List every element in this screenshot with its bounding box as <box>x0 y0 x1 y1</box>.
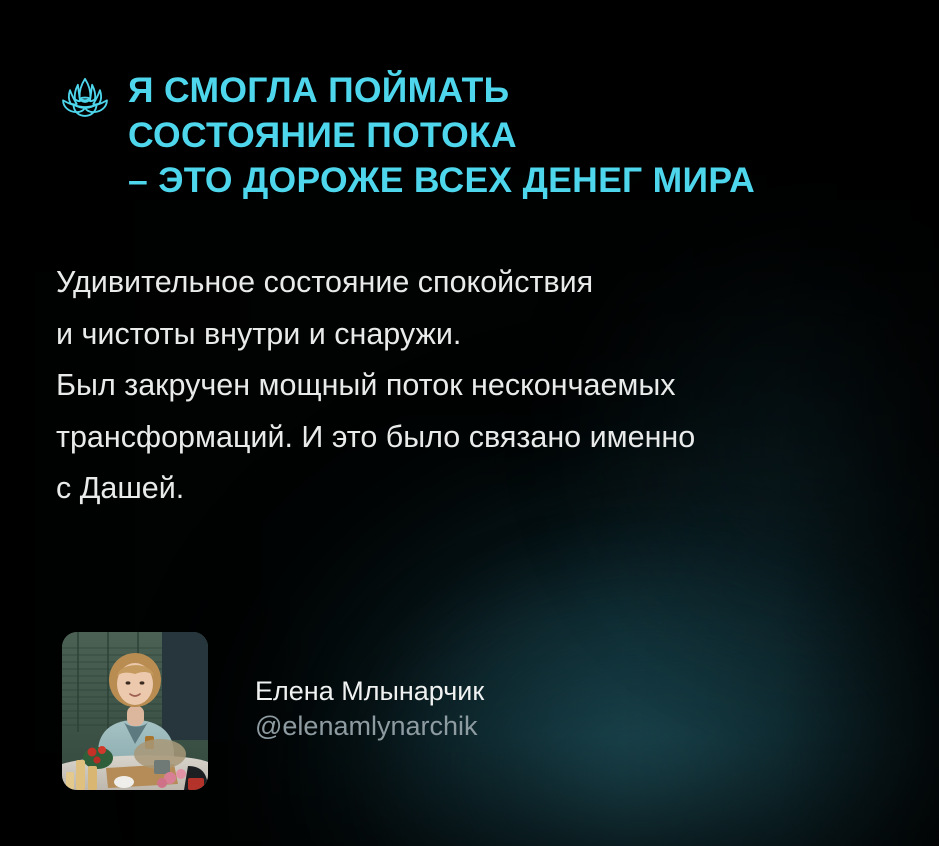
body-line-5: с Дашей. <box>56 463 916 515</box>
body-line-2: и чистоты внутри и снаружи. <box>56 309 916 361</box>
body-line-4: трансформаций. И это было связано именно <box>56 412 916 464</box>
author-block: Елена Млынарчик @elenamlynarchik <box>62 632 662 792</box>
author-text: Елена Млынарчик @elenamlynarchik <box>255 674 484 744</box>
testimonial-card: Я СМОГЛА ПОЙМАТЬ СОСТОЯНИЕ ПОТОКА – ЭТО … <box>0 0 939 846</box>
body-line-1: Удивительное состояние спокойствия <box>56 257 916 309</box>
headline-lines: Я СМОГЛА ПОЙМАТЬ СОСТОЯНИЕ ПОТОКА – ЭТО … <box>128 68 900 203</box>
headline-line-2: СОСТОЯНИЕ ПОТОКА <box>128 113 900 158</box>
author-handle: @elenamlynarchik <box>255 708 484 744</box>
lotus-icon <box>60 75 110 119</box>
body-line-3: Был закручен мощный поток нескончаемых <box>56 360 916 412</box>
headline-line-1: Я СМОГЛА ПОЙМАТЬ <box>128 68 900 113</box>
headline-line-3: – ЭТО ДОРОЖЕ ВСЕХ ДЕНЕГ МИРА <box>128 158 900 203</box>
headline-block: Я СМОГЛА ПОЙМАТЬ СОСТОЯНИЕ ПОТОКА – ЭТО … <box>60 68 900 203</box>
avatar <box>62 632 208 790</box>
author-name: Елена Млынарчик <box>255 674 484 708</box>
body-text-block: Удивительное состояние спокойствия и чис… <box>56 257 916 515</box>
